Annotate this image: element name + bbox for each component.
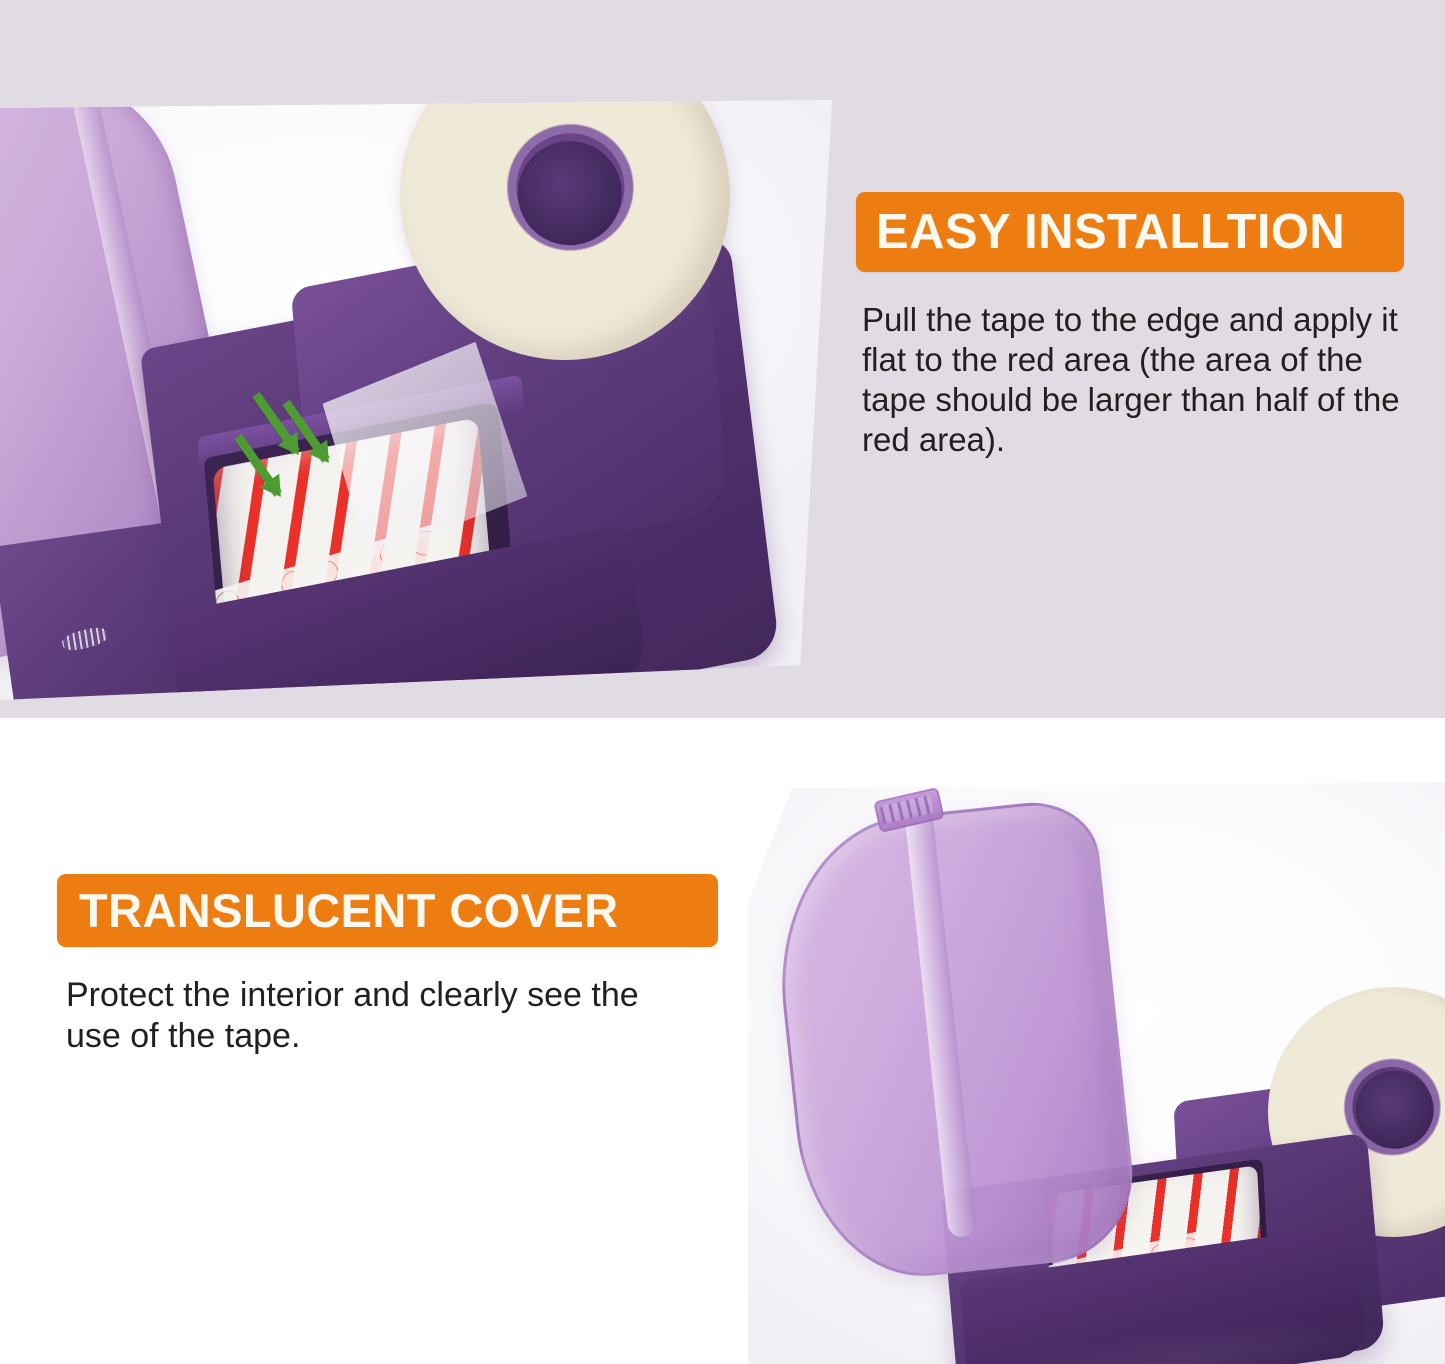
down-left-arrow-icon — [252, 392, 300, 455]
direction-arrows-group — [218, 388, 348, 498]
section-1-badge: EASY INSTALLTION — [856, 192, 1404, 272]
section-1-product-photo — [0, 100, 840, 718]
down-left-arrow-icon — [234, 434, 282, 497]
section-2-body-text: Protect the interior and clearly see the… — [66, 975, 646, 1057]
infographic-page: EASY INSTALLTION Pull the tape to the ed… — [0, 0, 1445, 1364]
section-2-badge: TRANSLUCENT COVER — [57, 874, 718, 947]
section-1-body-text: Pull the tape to the edge and apply it f… — [862, 300, 1410, 460]
section-2-product-photo — [748, 782, 1445, 1364]
